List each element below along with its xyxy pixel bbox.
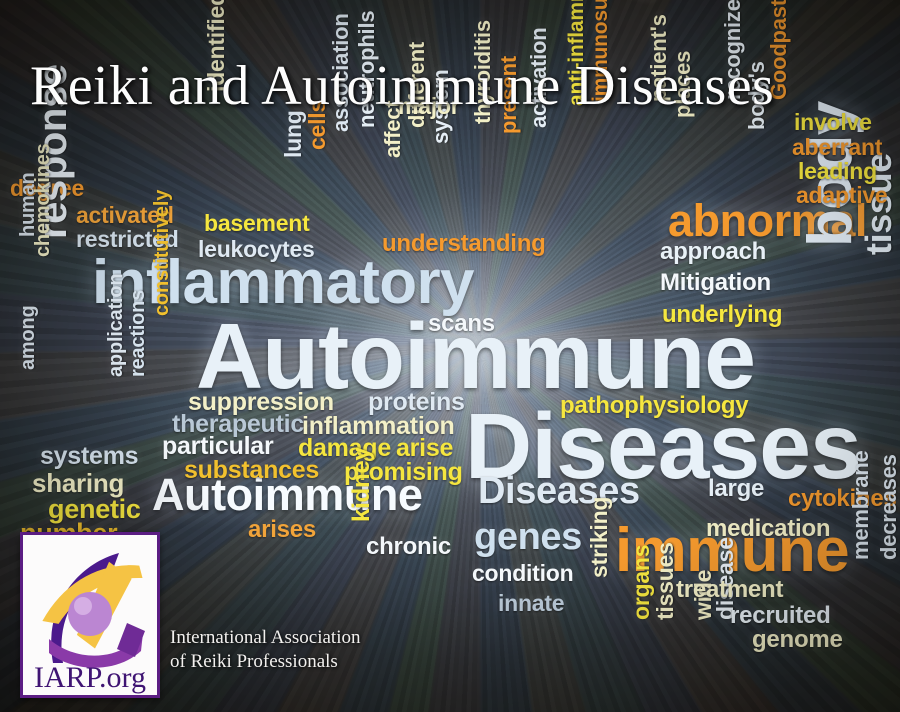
iarp-logo[interactable]: IARP.org	[20, 532, 160, 698]
word-cloud-image: AutoimmuneDiseasesinflammatoryimmuneAuto…	[0, 0, 900, 712]
logo-caption: International Association of Reiki Profe…	[170, 626, 360, 675]
page-title: Reiki and Autoimmune Diseases	[30, 54, 774, 118]
iarp-wordmark-text: IARP.org	[34, 661, 146, 694]
iarp-logo-mark: IARP.org	[23, 535, 157, 695]
